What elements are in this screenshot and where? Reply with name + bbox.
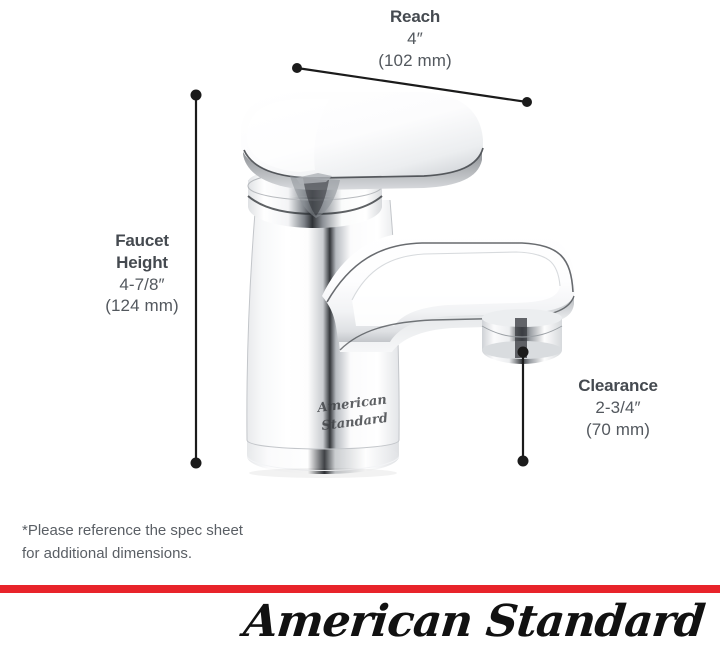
faucet-height-value-metric: (124 mm) [62,295,222,317]
dimension-label-clearance: Clearance 2-3/4″ (70 mm) [528,375,708,440]
footnote-line-1: *Please reference the spec sheet [22,520,322,543]
brand-divider-bar [0,585,720,593]
clearance-title: Clearance [528,375,708,397]
clearance-value-imperial: 2-3/4″ [528,397,708,419]
faucet-height-title-line1: Faucet [62,230,222,252]
faucet-height-value-imperial: 4-7/8″ [62,274,222,296]
faucet-height-title-line2: Height [62,252,222,274]
dimension-label-reach: Reach 4″ (102 mm) [310,6,520,71]
american-standard-logo: American Standard [242,600,707,644]
faucet-aerator [482,309,562,364]
spec-illustration-page: American Standard Reach 4″ (102 mm) [0,0,720,651]
footnote-line-2: for additional dimensions. [22,543,322,566]
clearance-value-metric: (70 mm) [528,419,708,441]
reach-value-metric: (102 mm) [310,50,520,72]
dimension-label-faucet-height: Faucet Height 4-7/8″ (124 mm) [62,230,222,317]
reach-title: Reach [310,6,520,28]
reach-value-imperial: 4″ [310,28,520,50]
footnote: *Please reference the spec sheet for add… [22,520,322,565]
